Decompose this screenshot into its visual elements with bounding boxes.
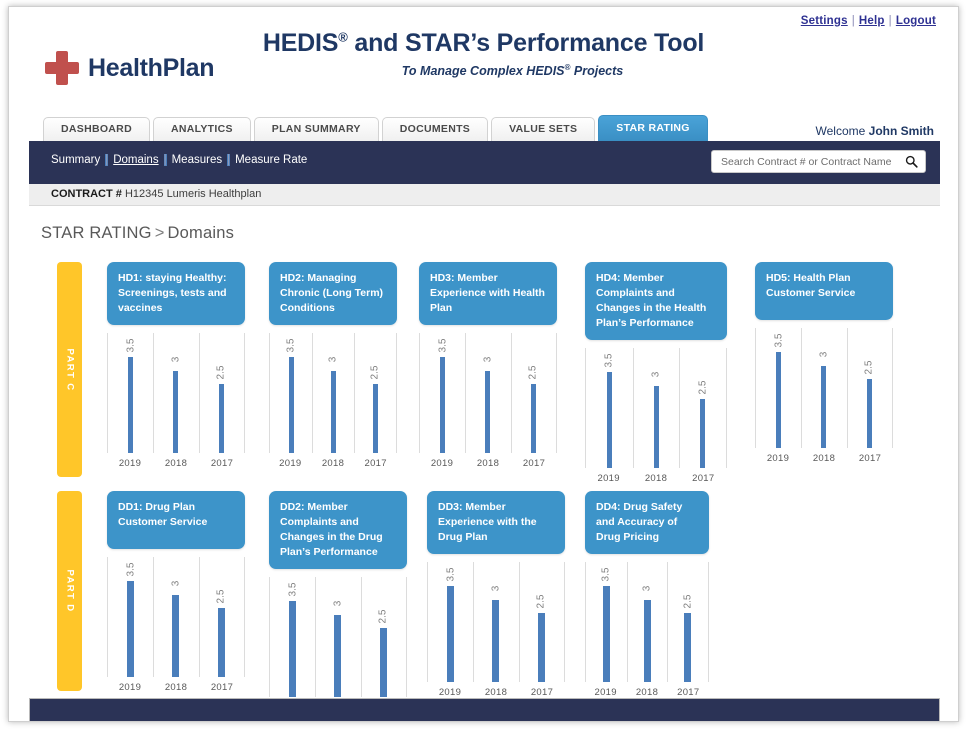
part-row-part-d: PART DDD1: Drug Plan Customer Service3.5… — [57, 491, 937, 691]
x-tick-2019: 2019 — [755, 453, 801, 464]
bar-2017[interactable] — [684, 613, 691, 682]
part-indicator-part-c: PART C — [57, 262, 82, 477]
bar-value-label-2019: 3.5 — [773, 333, 784, 347]
bar-slot-2019: 3.5 — [428, 562, 473, 682]
chart-plot-area: 3.532.5 — [269, 577, 407, 697]
domain-column-hd1: HD1: staying Healthy: Screenings, tests … — [107, 262, 245, 483]
bar-2018[interactable] — [173, 371, 178, 454]
domain-column-dd2: DD2: Member Complaints and Changes in th… — [269, 491, 407, 722]
bar-value-label-2017: 2.5 — [216, 366, 227, 380]
bar-value-label-2017: 2.5 — [528, 366, 539, 380]
x-tick-2017: 2017 — [199, 458, 245, 469]
bar-2017[interactable] — [373, 384, 378, 453]
bar-value-label-2019: 3.5 — [125, 338, 136, 352]
x-tick-2019: 2019 — [269, 458, 312, 469]
app-subtitle: To Manage Complex HEDIS® Projects — [9, 63, 958, 78]
x-tick-2017: 2017 — [668, 687, 709, 698]
star-rating-chart-hd1: 3.532.5201920182017 — [107, 333, 245, 483]
bar-slot-2019: 3.5 — [420, 333, 465, 453]
subnav-links: Summary|Domains|Measures|Measure Rate — [51, 154, 307, 166]
bar-2018[interactable] — [331, 371, 336, 454]
breadcrumb: STAR RATING>Domains — [41, 224, 234, 243]
chart-x-axis: 201920182017 — [107, 458, 245, 469]
domain-column-hd4: HD4: Member Complaints and Changes in th… — [585, 262, 727, 498]
x-tick-2017: 2017 — [199, 682, 245, 693]
domain-card-dd2[interactable]: DD2: Member Complaints and Changes in th… — [269, 491, 407, 569]
app-title-rest: and STAR’s Performance Tool — [348, 29, 705, 57]
chart-plot-area: 3.532.5 — [427, 562, 565, 682]
x-tick-2018: 2018 — [632, 473, 679, 484]
bar-slot-2018: 3 — [465, 333, 510, 453]
star-rating-chart-hd2: 3.532.5201920182017 — [269, 333, 397, 483]
domain-card-dd3[interactable]: DD3: Member Experience with the Drug Pla… — [427, 491, 565, 554]
bar-value-label-2017: 2.5 — [378, 610, 389, 624]
bar-slot-2017: 2.5 — [361, 577, 406, 697]
domain-card-hd3[interactable]: HD3: Member Experience with Health Plan — [419, 262, 557, 325]
chart-plot-area: 3.532.5 — [269, 333, 397, 453]
bar-value-label-2019: 3.5 — [604, 353, 615, 367]
bar-slot-2019: 3.5 — [586, 348, 633, 468]
x-tick-2017: 2017 — [354, 458, 397, 469]
bar-value-label-2017: 2.5 — [864, 361, 875, 375]
bar-slot-2017: 2.5 — [679, 348, 726, 468]
bar-value-label-2018: 3 — [332, 600, 343, 606]
domain-card-dd1[interactable]: DD1: Drug Plan Customer Service — [107, 491, 245, 549]
chart-x-axis: 201920182017 — [107, 682, 245, 693]
bar-value-label-2017: 2.5 — [216, 590, 227, 604]
subnav-link-domains[interactable]: Domains — [113, 154, 158, 166]
bar-value-label-2018: 3 — [818, 351, 829, 357]
bar-2018[interactable] — [492, 600, 499, 683]
x-tick-2018: 2018 — [473, 687, 519, 698]
x-tick-2017: 2017 — [847, 453, 893, 464]
search-icon[interactable] — [905, 155, 918, 168]
chart-x-axis: 201920182017 — [269, 458, 397, 469]
utility-separator-2: | — [889, 15, 892, 27]
bar-2019[interactable] — [607, 372, 612, 468]
bar-slot-2019: 3.5 — [270, 333, 312, 453]
welcome-username: John Smith — [869, 124, 934, 138]
bar-slot-2018: 3 — [627, 562, 668, 682]
x-tick-2019: 2019 — [107, 682, 153, 693]
bar-value-label-2018: 3 — [328, 356, 339, 362]
bar-value-label-2018: 3 — [482, 356, 493, 362]
x-tick-2017: 2017 — [511, 458, 557, 469]
bar-value-label-2017: 2.5 — [370, 366, 381, 380]
main-tabbar: DASHBOARDANALYTICSPLAN SUMMARYDOCUMENTSV… — [43, 114, 711, 141]
tab-star-rating[interactable]: STAR RATING — [598, 115, 708, 141]
bar-2019[interactable] — [289, 601, 296, 697]
bar-slot-2017: 2.5 — [847, 328, 892, 448]
bar-slot-2017: 2.5 — [354, 333, 396, 453]
subnav-separator-2: | — [164, 154, 167, 166]
tab-dashboard[interactable]: DASHBOARD — [43, 117, 150, 141]
bar-slot-2018: 3 — [633, 348, 680, 468]
app-window: Settings|Help|Logout HealthPlan HEDIS® a… — [8, 6, 959, 722]
bar-2018[interactable] — [172, 595, 179, 678]
bar-2017[interactable] — [700, 399, 705, 468]
part-row-part-c: PART CHD1: staying Healthy: Screenings, … — [57, 262, 937, 477]
bar-slot-2019: 3.5 — [586, 562, 627, 682]
tab-plan-summary[interactable]: PLAN SUMMARY — [254, 117, 379, 141]
domain-card-dd4[interactable]: DD4: Drug Safety and Accuracy of Drug Pr… — [585, 491, 709, 554]
bar-2019[interactable] — [289, 357, 294, 453]
bar-slot-2018: 3 — [473, 562, 518, 682]
chart-plot-area: 3.532.5 — [585, 562, 709, 682]
registered-mark-icon: ® — [338, 30, 347, 45]
x-tick-2018: 2018 — [626, 687, 667, 698]
part-indicator-part-d: PART D — [57, 491, 82, 691]
bar-slot-2018: 3 — [315, 577, 360, 697]
help-link[interactable]: Help — [859, 15, 885, 27]
bar-2018[interactable] — [334, 615, 341, 698]
bar-value-label-2017: 2.5 — [682, 595, 693, 609]
part-label: PART D — [64, 569, 75, 612]
x-tick-2018: 2018 — [465, 458, 511, 469]
subnav-link-measures[interactable]: Measures — [172, 154, 223, 166]
subnav-link-summary[interactable]: Summary — [51, 154, 100, 166]
screenshot-root: Settings|Help|Logout HealthPlan HEDIS® a… — [0, 0, 971, 732]
x-tick-2017: 2017 — [680, 473, 727, 484]
bar-slot-2017: 2.5 — [519, 562, 564, 682]
bar-slot-2017: 2.5 — [511, 333, 556, 453]
bar-value-label-2017: 2.5 — [697, 381, 708, 395]
domain-column-hd2: HD2: Managing Chronic (Long Term) Condit… — [269, 262, 397, 483]
chart-plot-area: 3.532.5 — [107, 333, 245, 453]
domain-column-hd5: HD5: Health Plan Customer Service3.532.5… — [755, 262, 893, 478]
bar-2019[interactable] — [776, 352, 781, 448]
tab-analytics[interactable]: ANALYTICS — [153, 117, 251, 141]
star-rating-chart-hd3: 3.532.5201920182017 — [419, 333, 557, 483]
bar-slot-2018: 3 — [312, 333, 354, 453]
bar-value-label-2017: 2.5 — [536, 595, 547, 609]
bar-slot-2018: 3 — [153, 557, 198, 677]
star-rating-chart-hd4: 3.532.5201920182017 — [585, 348, 727, 498]
x-tick-2018: 2018 — [153, 458, 199, 469]
bar-2017[interactable] — [219, 384, 224, 453]
contract-label: CONTRACT # — [51, 188, 122, 200]
x-tick-2018: 2018 — [801, 453, 847, 464]
bar-value-label-2019: 3.5 — [125, 562, 136, 576]
bar-value-label-2018: 3 — [170, 356, 181, 362]
domain-column-hd3: HD3: Member Experience with Health Plan3… — [419, 262, 557, 483]
page-title: HEDIS® and STAR’s Performance Tool — [9, 29, 958, 58]
chart-plot-area: 3.532.5 — [419, 333, 557, 453]
bar-2017[interactable] — [380, 628, 387, 697]
bar-slot-2017: 2.5 — [199, 557, 244, 677]
bar-2017[interactable] — [218, 608, 225, 677]
app-subtitle-post: Projects — [570, 64, 623, 78]
chart-plot-area: 3.532.5 — [755, 328, 893, 448]
star-rating-chart-dd4: 3.532.5201920182017 — [585, 562, 709, 712]
domain-card-hd4[interactable]: HD4: Member Complaints and Changes in th… — [585, 262, 727, 340]
x-tick-2019: 2019 — [427, 687, 473, 698]
chart-x-axis: 201920182017 — [585, 473, 727, 484]
bar-slot-2017: 2.5 — [199, 333, 244, 453]
bar-value-label-2018: 3 — [490, 585, 501, 591]
app-subtitle-pre: To Manage Complex HEDIS — [402, 64, 565, 78]
bar-2017[interactable] — [538, 613, 545, 682]
breadcrumb-section: STAR RATING — [41, 224, 152, 242]
chart-x-axis: 201920182017 — [755, 453, 893, 464]
bar-2019[interactable] — [440, 357, 445, 453]
bar-slot-2019: 3.5 — [108, 557, 153, 677]
x-tick-2018: 2018 — [153, 682, 199, 693]
bar-value-label-2019: 3.5 — [601, 567, 612, 581]
x-tick-2019: 2019 — [585, 687, 626, 698]
bar-2017[interactable] — [867, 379, 872, 448]
bar-value-label-2019: 3.5 — [437, 338, 448, 352]
domain-card-hd1[interactable]: HD1: staying Healthy: Screenings, tests … — [107, 262, 245, 325]
chart-x-axis: 201920182017 — [585, 687, 709, 698]
utility-separator-1: | — [852, 15, 855, 27]
bar-2018[interactable] — [654, 386, 659, 469]
star-rating-chart-dd3: 3.532.5201920182017 — [427, 562, 565, 712]
subnav-separator-3: | — [227, 154, 230, 166]
bar-value-label-2019: 3.5 — [286, 338, 297, 352]
contract-number: H12345 — [125, 188, 164, 200]
contract-bar: CONTRACT # H12345 Lumeris Healthplan — [29, 184, 940, 206]
star-rating-chart-hd5: 3.532.5201920182017 — [755, 328, 893, 478]
bar-2019[interactable] — [447, 586, 454, 682]
contract-info: CONTRACT # H12345 Lumeris Healthplan — [51, 188, 261, 200]
footer-bar — [29, 698, 940, 722]
domain-column-dd3: DD3: Member Experience with the Drug Pla… — [427, 491, 565, 712]
breadcrumb-separator: > — [155, 224, 165, 242]
subnav-separator-1: | — [105, 154, 108, 166]
contract-name: Lumeris Healthplan — [167, 188, 262, 200]
tab-documents[interactable]: DOCUMENTS — [382, 117, 488, 141]
bar-slot-2019: 3.5 — [270, 577, 315, 697]
bar-2019[interactable] — [127, 581, 134, 677]
settings-link[interactable]: Settings — [801, 15, 848, 27]
welcome-prefix: Welcome — [816, 124, 869, 138]
bar-value-label-2019: 3.5 — [287, 582, 298, 596]
bar-slot-2019: 3.5 — [108, 333, 153, 453]
bar-value-label-2018: 3 — [170, 580, 181, 586]
bar-2018[interactable] — [821, 366, 826, 449]
domain-column-dd1: DD1: Drug Plan Customer Service3.532.520… — [107, 491, 245, 707]
bar-2019[interactable] — [603, 586, 610, 682]
search-input[interactable] — [719, 155, 905, 169]
bar-slot-2017: 2.5 — [667, 562, 708, 682]
bar-value-label-2018: 3 — [642, 585, 653, 591]
bar-2017[interactable] — [531, 384, 536, 453]
sub-navigation-bar: Summary|Domains|Measures|Measure Rate — [29, 141, 940, 184]
x-tick-2019: 2019 — [585, 473, 632, 484]
breadcrumb-page: Domains — [168, 224, 235, 242]
star-rating-chart-dd1: 3.532.5201920182017 — [107, 557, 245, 707]
domain-card-hd2[interactable]: HD2: Managing Chronic (Long Term) Condit… — [269, 262, 397, 325]
bar-2018[interactable] — [644, 600, 651, 683]
part-label: PART C — [64, 348, 75, 391]
bar-slot-2019: 3.5 — [756, 328, 801, 448]
x-tick-2019: 2019 — [419, 458, 465, 469]
domain-card-hd5[interactable]: HD5: Health Plan Customer Service — [755, 262, 893, 320]
x-tick-2017: 2017 — [519, 687, 565, 698]
contract-search-box[interactable] — [711, 150, 926, 173]
bar-slot-2018: 3 — [801, 328, 846, 448]
utility-links: Settings|Help|Logout — [801, 15, 936, 27]
bar-2019[interactable] — [128, 357, 133, 453]
logout-link[interactable]: Logout — [896, 15, 936, 27]
domain-column-dd4: DD4: Drug Safety and Accuracy of Drug Pr… — [585, 491, 709, 712]
tab-value-sets[interactable]: VALUE SETS — [491, 117, 595, 141]
chart-x-axis: 201920182017 — [427, 687, 565, 698]
bar-slot-2018: 3 — [153, 333, 198, 453]
chart-plot-area: 3.532.5 — [585, 348, 727, 468]
x-tick-2018: 2018 — [312, 458, 355, 469]
bar-value-label-2018: 3 — [651, 371, 662, 377]
subnav-link-measure-rate[interactable]: Measure Rate — [235, 154, 307, 166]
chart-x-axis: 201920182017 — [419, 458, 557, 469]
bar-2018[interactable] — [485, 371, 490, 454]
welcome-message: Welcome John Smith — [816, 124, 934, 138]
bar-value-label-2019: 3.5 — [445, 567, 456, 581]
chart-plot-area: 3.532.5 — [107, 557, 245, 677]
app-title-main: HEDIS — [263, 29, 338, 57]
x-tick-2019: 2019 — [107, 458, 153, 469]
